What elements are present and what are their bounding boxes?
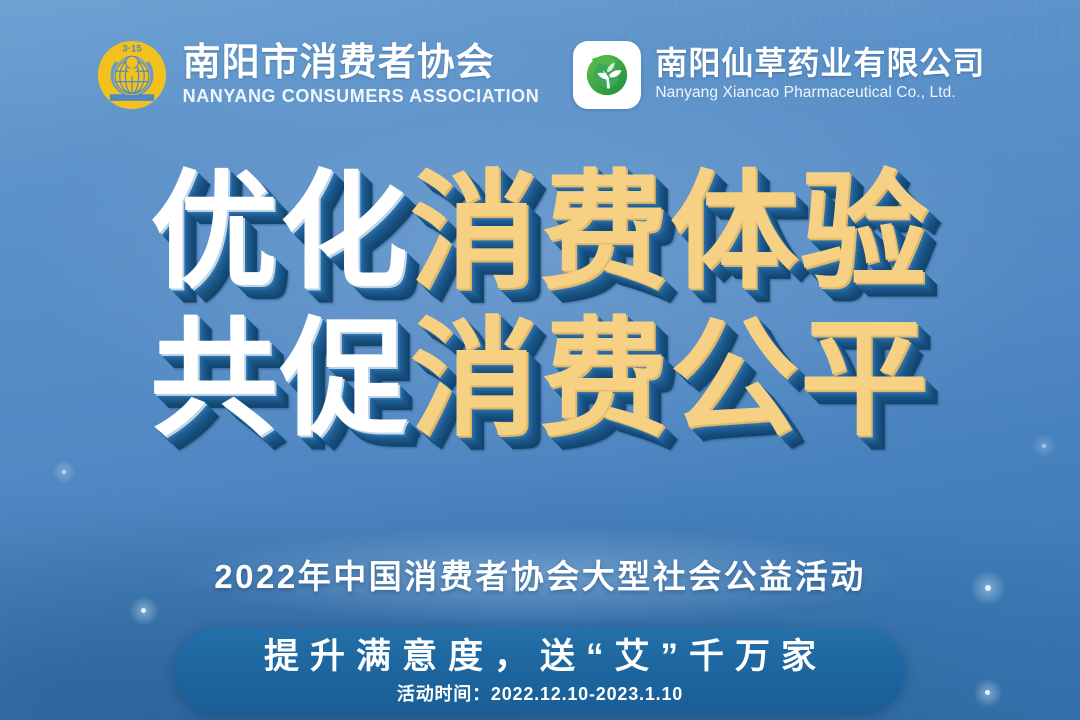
sponsor-name-cn: 南阳仙草药业有限公司 bbox=[655, 47, 985, 81]
headline-line-1-white: 优化 bbox=[150, 158, 410, 307]
header-logos: 3·15 南阳市消费者协会 NANYANG CONSUMERS ASSOCIAT… bbox=[0, 34, 1080, 116]
light-spark-icon bbox=[985, 690, 990, 695]
sponsor-logo-block: 南阳仙草药业有限公司 Nanyang Xiancao Pharmaceutica… bbox=[573, 41, 985, 109]
association-logo-block: 3·15 南阳市消费者协会 NANYANG CONSUMERS ASSOCIAT… bbox=[95, 38, 540, 112]
headline-line-1: 优化消费体验 bbox=[0, 168, 1080, 299]
headline-line-2: 共促消费公平 bbox=[0, 315, 1080, 446]
slogan-banner: 提升满意度，送“艾”千万家 活动时间：2022.12.10-2023.1.10 bbox=[175, 628, 905, 714]
315-emblem-icon: 3·15 bbox=[95, 38, 169, 112]
light-spark-icon bbox=[141, 608, 146, 613]
315-emblem-text: 3·15 bbox=[122, 43, 142, 54]
headline-line-1-gold: 消费体验 bbox=[410, 158, 930, 307]
headline-line-2-gold: 消费公平 bbox=[410, 305, 930, 454]
promotional-poster: 3·15 南阳市消费者协会 NANYANG CONSUMERS ASSOCIAT… bbox=[0, 0, 1080, 720]
banner-slogan-text: 提升满意度，送“艾”千万家 bbox=[253, 638, 827, 676]
sponsor-name-en: Nanyang Xiancao Pharmaceutical Co., Ltd. bbox=[655, 83, 985, 102]
main-headline: 优化消费体验 共促消费公平 bbox=[0, 168, 1080, 445]
green-leaf-logo-icon bbox=[573, 41, 641, 109]
association-name-cn: 南阳市消费者协会 bbox=[183, 43, 540, 83]
association-name-en: NANYANG CONSUMERS ASSOCIATION bbox=[183, 85, 540, 108]
banner-date-text: 活动时间：2022.12.10-2023.1.10 bbox=[397, 680, 683, 706]
event-subtitle: 2022年中国消费者协会大型社会公益活动 bbox=[0, 550, 1080, 598]
headline-line-2-white: 共促 bbox=[150, 305, 410, 454]
light-spark-icon bbox=[62, 470, 66, 474]
